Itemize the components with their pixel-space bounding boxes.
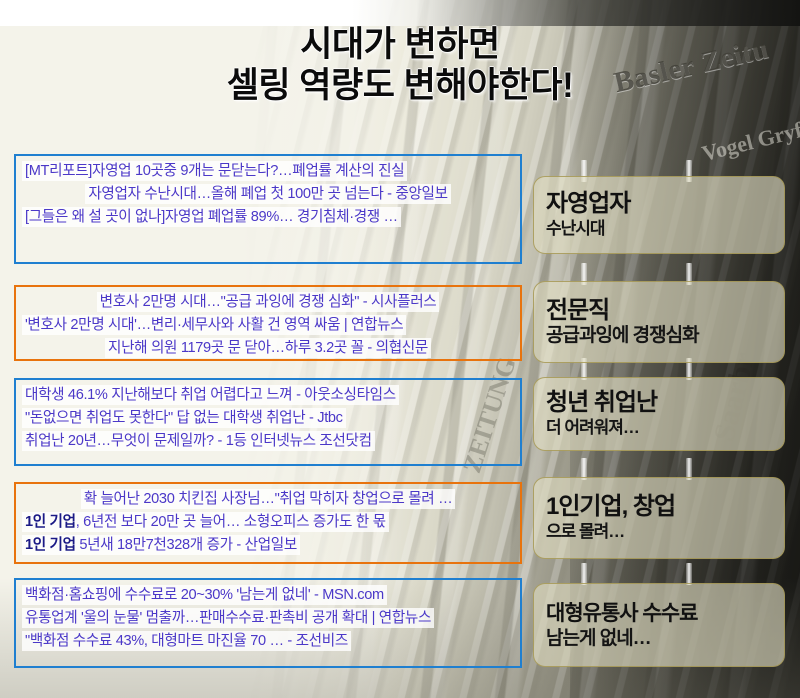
summary-tag-title: 청년 취업난 bbox=[546, 389, 772, 417]
news-headline[interactable]: "백화점 수수료 43%, 대형마트 마진율 70 … - 조선비즈 bbox=[22, 633, 514, 650]
headline-text: 백화점·홈쇼핑에 수수료로 20~30% '남는게 없네' - MSN.com bbox=[22, 585, 387, 605]
summary-tag-subtitle: 공급과잉에 경쟁심화 bbox=[546, 325, 772, 347]
news-headline[interactable]: "돈없으면 취업도 못한다" 답 없는 대학생 취업난 - Jtbc bbox=[22, 410, 514, 427]
summary-tag-subtitle: 더 어려워져… bbox=[546, 417, 772, 439]
headline-text: "돈없으면 취업도 못한다" 답 없는 대학생 취업난 - Jtbc bbox=[22, 408, 346, 428]
summary-tag-box: 전문직공급과잉에 경쟁심화 bbox=[533, 281, 785, 363]
news-headline[interactable]: 1인 기업 5년새 18만7천328개 증가 - 산업일보 bbox=[22, 537, 514, 554]
news-headline[interactable]: 1인 기업, 6년전 보다 20만 곳 늘어… 소형오피스 증가도 한 몫 bbox=[22, 514, 514, 531]
news-headline[interactable]: 확 늘어난 2030 치킨집 사장님…"취업 막히자 창업으로 몰려 … bbox=[22, 491, 514, 508]
news-headline-box: 대학생 46.1% 지난해보다 취업 어렵다고 느껴 - 아웃소싱타임스"돈없으… bbox=[14, 378, 522, 466]
headline-text: 확 늘어난 2030 치킨집 사장님…"취업 막히자 창업으로 몰려 … bbox=[81, 489, 456, 509]
summary-tag-subtitle: 수난시대 bbox=[546, 218, 772, 240]
headline-text: 1인 기업 5년새 18만7천328개 증가 - 산업일보 bbox=[22, 535, 300, 555]
news-headline[interactable]: 대학생 46.1% 지난해보다 취업 어렵다고 느껴 - 아웃소싱타임스 bbox=[22, 387, 514, 404]
headline-text: 자영업자 수난시대…올해 폐업 첫 100만 곳 넘는다 - 중앙일보 bbox=[85, 184, 450, 204]
news-headline[interactable]: 자영업자 수난시대…올해 폐업 첫 100만 곳 넘는다 - 중앙일보 bbox=[22, 186, 514, 203]
summary-tag-box: 자영업자수난시대 bbox=[533, 176, 785, 254]
news-headline-box: 변호사 2만명 시대…"공급 과잉에 경쟁 심화" - 시사플러스'변호사 2만… bbox=[14, 285, 522, 361]
background-top-band bbox=[0, 0, 800, 26]
summary-tag-box: 대형유통사 수수료남는게 없네… bbox=[533, 583, 785, 667]
summary-tag-subtitle: 남는게 없네… bbox=[546, 628, 772, 650]
headline-text: [MT리포트]자영업 10곳중 9개는 문닫는다?…폐업률 계산의 진실 bbox=[22, 161, 407, 181]
news-headline[interactable]: 변호사 2만명 시대…"공급 과잉에 경쟁 심화" - 시사플러스 bbox=[22, 294, 514, 311]
headline-emphasis: 1인 기업 bbox=[25, 537, 76, 553]
headline-text: '변호사 2만명 시대'…변리·세무사와 사활 건 영역 싸움 | 연합뉴스 bbox=[22, 315, 406, 335]
headline-emphasis: 1인 기업 bbox=[25, 514, 76, 530]
news-headline[interactable]: 백화점·홈쇼핑에 수수료로 20~30% '남는게 없네' - MSN.com bbox=[22, 587, 514, 604]
slide-title: 시대가 변하면 셀링 역량도 변해야한다! bbox=[0, 24, 800, 106]
summary-tag-subtitle: 으로 몰려… bbox=[546, 521, 772, 543]
summary-tag-box: 청년 취업난더 어려워져… bbox=[533, 377, 785, 451]
summary-tag-title: 1인기업, 창업 bbox=[546, 493, 772, 521]
tag-connector-bar bbox=[686, 563, 692, 585]
news-headline[interactable]: 취업난 20년…무엇이 문제일까? - 1등 인터넷뉴스 조선닷컴 bbox=[22, 433, 514, 450]
news-headline-box: 확 늘어난 2030 치킨집 사장님…"취업 막히자 창업으로 몰려 …1인 기… bbox=[14, 482, 522, 564]
headline-text: "백화점 수수료 43%, 대형마트 마진율 70 … - 조선비즈 bbox=[22, 631, 351, 651]
summary-tag-title: 대형유통사 수수료 bbox=[546, 600, 772, 628]
headline-text: 대학생 46.1% 지난해보다 취업 어렵다고 느껴 - 아웃소싱타임스 bbox=[22, 385, 399, 405]
news-headline[interactable]: 유통업계 '울의 눈물' 멈출까…판매수수료·판촉비 공개 확대 | 연합뉴스 bbox=[22, 610, 514, 627]
headline-text: 유통업계 '울의 눈물' 멈출까…판매수수료·판촉비 공개 확대 | 연합뉴스 bbox=[22, 608, 434, 628]
slide-canvas: Basler Zeitu Vogel Gryff beginnt Saarbr … bbox=[0, 0, 800, 698]
title-line-2: 셀링 역량도 변해야한다! bbox=[0, 65, 800, 106]
headline-text: 변호사 2만명 시대…"공급 과잉에 경쟁 심화" - 시사플러스 bbox=[97, 292, 440, 312]
news-headline-box: [MT리포트]자영업 10곳중 9개는 문닫는다?…폐업률 계산의 진실자영업자… bbox=[14, 154, 522, 264]
news-headline[interactable]: 지난해 의원 1179곳 문 닫아…하루 3.2곳 꼴 - 의협신문 bbox=[22, 340, 514, 357]
tag-connector-bar bbox=[581, 563, 587, 585]
title-line-1: 시대가 변하면 bbox=[0, 24, 800, 65]
summary-tag-title: 자영업자 bbox=[546, 190, 772, 218]
news-headline[interactable]: '변호사 2만명 시대'…변리·세무사와 사활 건 영역 싸움 | 연합뉴스 bbox=[22, 317, 514, 334]
news-headline[interactable]: [그들은 왜 설 곳이 없나]자영업 폐업률 89%… 경기침체·경쟁 … bbox=[22, 209, 514, 226]
summary-tag-title: 전문직 bbox=[546, 297, 772, 325]
summary-tag-box: 1인기업, 창업으로 몰려… bbox=[533, 477, 785, 559]
headline-text: 지난해 의원 1179곳 문 닫아…하루 3.2곳 꼴 - 의협신문 bbox=[105, 338, 431, 358]
news-headline[interactable]: [MT리포트]자영업 10곳중 9개는 문닫는다?…폐업률 계산의 진실 bbox=[22, 163, 514, 180]
headline-text: 1인 기업, 6년전 보다 20만 곳 늘어… 소형오피스 증가도 한 몫 bbox=[22, 512, 389, 532]
news-headline-box: 백화점·홈쇼핑에 수수료로 20~30% '남는게 없네' - MSN.com유… bbox=[14, 578, 522, 668]
headline-text: [그들은 왜 설 곳이 없나]자영업 폐업률 89%… 경기침체·경쟁 … bbox=[22, 207, 401, 227]
headline-text: 취업난 20년…무엇이 문제일까? - 1등 인터넷뉴스 조선닷컴 bbox=[22, 431, 375, 451]
